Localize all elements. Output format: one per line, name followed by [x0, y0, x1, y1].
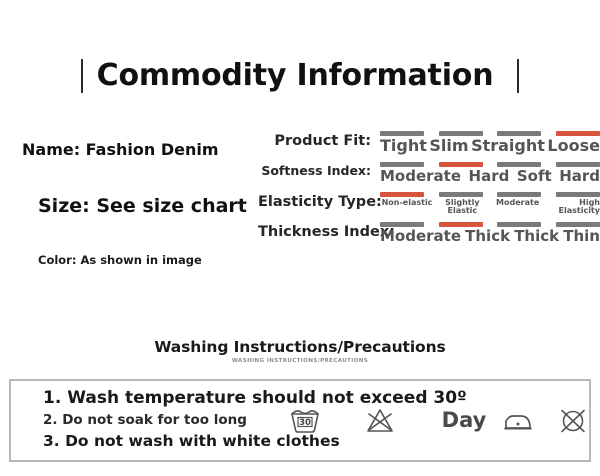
option-thickness-index-0: Moderate — [380, 229, 461, 245]
attribute-label-product-fit: Product Fit: — [258, 131, 380, 149]
attribute-row-elasticity-type: Elasticity Type: Non-elastic Slightly El… — [258, 192, 600, 216]
attribute-row-product-fit: Product Fit: Tight Slim Straight Loose — [258, 131, 600, 155]
option-thickness-index-3: Thin — [563, 229, 600, 245]
product-size: Size: See size chart — [0, 195, 258, 217]
attribute-row-softness-index: Softness Index: Moderate Hard Soft Hard — [258, 162, 600, 185]
washing-instructions-heading-group: Washing Instructions/Precautions WASHING… — [0, 338, 600, 364]
care-instructions-box: 1. Wash temperature should not exceed 30… — [9, 379, 591, 462]
care-instruction-1: 1. Wash temperature should not exceed 30… — [43, 388, 463, 408]
page-title: Commodity Information — [97, 58, 494, 93]
attribute-body-softness-index: Moderate Hard Soft Hard — [380, 162, 600, 185]
option-softness-index-1: Hard — [469, 169, 510, 185]
attribute-label-elasticity-type: Elasticity Type: — [258, 192, 380, 210]
attribute-bars-elasticity-type — [380, 192, 600, 197]
wash-tub-30-icon: 30 — [288, 405, 322, 437]
product-name: Name: Fashion Denim — [0, 140, 258, 159]
option-product-fit-0: Tight — [380, 138, 427, 155]
attribute-body-thickness-index: Moderate Thick Thick Thin — [380, 222, 600, 245]
attribute-options-softness-index: Moderate Hard Soft Hard — [380, 169, 600, 185]
product-color: Color: As shown in image — [0, 253, 258, 267]
option-thickness-index-2: Thick — [514, 229, 559, 245]
attribute-label-thickness-index: Thickness Index: — [258, 222, 380, 240]
attribute-options-elasticity-type: Non-elastic Slightly Elastic Moderate Hi… — [380, 199, 600, 216]
bar-elasticity-type-1[interactable] — [439, 192, 483, 197]
care-instruction-lines: 1. Wash temperature should not exceed 30… — [43, 388, 463, 450]
title-rule-left-icon — [81, 59, 83, 93]
option-product-fit-3: Loose — [547, 138, 600, 155]
care-instructions-inner: 1. Wash temperature should not exceed 30… — [11, 381, 589, 460]
iron-low-heat-icon — [501, 405, 535, 437]
option-product-fit-1: Slim — [429, 138, 468, 155]
title-rule-right-icon — [517, 59, 519, 93]
do-not-dry-clean-icon — [556, 405, 590, 437]
day-label: Day — [429, 403, 499, 437]
do-not-bleach-icon — [363, 405, 397, 437]
option-softness-index-3: Hard — [559, 169, 600, 185]
day-label-text: Day — [442, 408, 487, 432]
option-product-fit-2: Straight — [471, 138, 545, 155]
page-title-row: Commodity Information — [0, 58, 600, 93]
option-elasticity-type-2: Moderate — [491, 199, 545, 216]
attribute-row-thickness-index: Thickness Index: Moderate Thick Thick Th… — [258, 222, 600, 245]
attribute-label-softness-index: Softness Index: — [258, 162, 380, 178]
wash-tub-temperature-value: 30 — [299, 418, 311, 428]
attribute-options-thickness-index: Moderate Thick Thick Thin — [380, 229, 600, 245]
washing-instructions-subheading: WASHING INSTRUCTIONS/PRECAUTIONS — [0, 358, 600, 364]
attribute-options-product-fit: Tight Slim Straight Loose — [380, 138, 600, 155]
care-instruction-2: 2. Do not soak for too long — [43, 412, 463, 428]
option-elasticity-type-0: Non-elastic — [380, 199, 434, 216]
bar-elasticity-type-3[interactable] — [556, 192, 600, 197]
bar-elasticity-type-0[interactable] — [380, 192, 424, 197]
option-thickness-index-1: Thick — [465, 229, 510, 245]
washing-instructions-heading: Washing Instructions/Precautions — [0, 338, 600, 356]
attribute-body-elasticity-type: Non-elastic Slightly Elastic Moderate Hi… — [380, 192, 600, 216]
bar-elasticity-type-2[interactable] — [497, 192, 541, 197]
option-softness-index-0: Moderate — [380, 169, 461, 185]
option-softness-index-2: Soft — [517, 169, 552, 185]
product-info-column: Name: Fashion Denim Size: See size chart… — [0, 140, 258, 267]
option-elasticity-type-1: Slightly Elastic — [435, 199, 489, 216]
attribute-list: Product Fit: Tight Slim Straight Loose S… — [258, 131, 600, 252]
attribute-body-product-fit: Tight Slim Straight Loose — [380, 131, 600, 155]
option-elasticity-type-3: High Elasticity — [546, 199, 600, 216]
care-instruction-3: 3. Do not wash with white clothes — [43, 432, 463, 450]
